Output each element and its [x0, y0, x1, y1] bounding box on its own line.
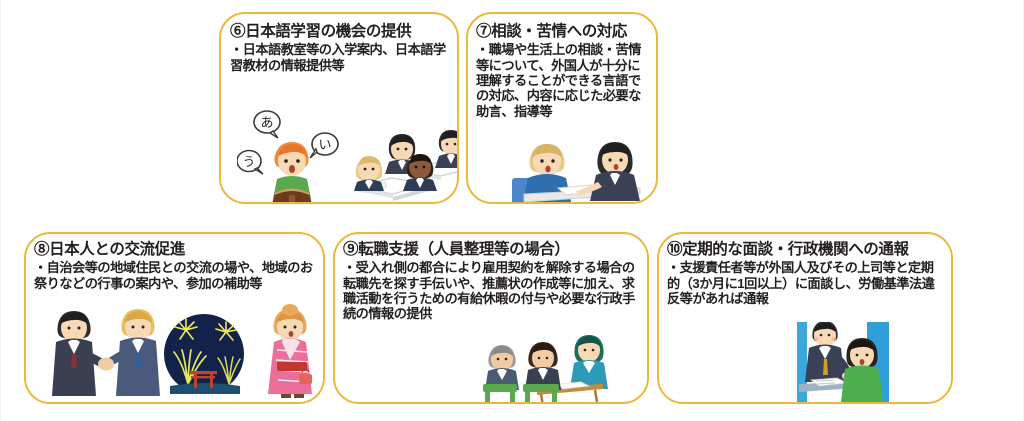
- interviewer-figure: [568, 335, 608, 392]
- card-periodic-interview-reporting: ⑩定期的な面談・行政機関への通報 ・支援責任者等が外国人及びその上司等と定期的（…: [657, 232, 953, 404]
- speech-bubble-u: う: [237, 151, 263, 175]
- consultation-staff-figure: [576, 142, 640, 201]
- supervisor-figure: [805, 322, 852, 382]
- card6-title: ⑥日本語学習の機会の提供: [230, 23, 457, 40]
- handshake-figures: [52, 309, 160, 396]
- consultation-desk-illustration: [506, 134, 656, 204]
- card6-body: ・日本語教室等の入学案内、日本語学習教材の情報提供等: [230, 42, 449, 73]
- card10-title: ⑩定期的な面談・行政機関への通報: [667, 241, 951, 258]
- speech-bubble-a: あ: [254, 111, 280, 138]
- svg-text:い: い: [318, 138, 331, 153]
- card-consultation-complaints: ⑦相談・苦情への対応 ・職場や生活上の相談・苦情等について、外国人が十分に理解す…: [466, 12, 658, 204]
- student-figure-2: [385, 134, 419, 174]
- card8-title: ⑧日本人との交流促進: [34, 241, 323, 258]
- card8-body: ・自治会等の地域住民との交流の場や、地域のお祭りなどの行事の案内や、参加の補助等: [34, 260, 316, 291]
- card7-body: ・職場や生活上の相談・苦情等について、外国人が十分に理解することができる言語での…: [476, 42, 649, 119]
- applicant-figure-2: [523, 342, 561, 404]
- card-exchange-with-japanese: ⑧日本人との交流促進 ・自治会等の地域住民との交流の場や、地域のお祭りなどの行事…: [24, 232, 325, 404]
- card-japanese-language-learning: ⑥日本語学習の機会の提供 ・日本語教室等の入学案内、日本語学習教材の情報提供等 …: [219, 12, 459, 204]
- reading-student-figure: [272, 142, 312, 204]
- svg-text:あ: あ: [260, 116, 273, 131]
- language-class-illustration: あ い う: [237, 109, 459, 204]
- applicant-figure-1: [483, 345, 519, 404]
- student-figure-3: [403, 154, 437, 191]
- job-interview-illustration: [475, 334, 635, 404]
- card10-body: ・支援責任者等が外国人及びその上司等と定期的（3か月に1回以上）に面談し、労働基…: [667, 260, 944, 306]
- classroom-desks: [355, 162, 459, 201]
- yukata-woman-figure: [268, 304, 312, 398]
- student-figure-4: [435, 130, 459, 168]
- support-measures-diagram: ⑥日本語学習の機会の提供 ・日本語教室等の入学案内、日本語学習教材の情報提供等 …: [0, 0, 1024, 421]
- consultation-client-figure: [522, 144, 572, 204]
- card7-title: ⑦相談・苦情への対応: [476, 23, 656, 40]
- card9-body: ・受入れ側の都合により雇用契約を解除する場合の転職先を探す手伝いや、推薦状の作成…: [343, 260, 640, 321]
- fireworks-illustration: [164, 314, 244, 394]
- periodic-meeting-illustration: [789, 322, 929, 404]
- interviewee-figure: [841, 338, 883, 402]
- card9-title: ⑨転職支援（人員整理等の場合）: [343, 241, 647, 258]
- exchange-festival-illustration: [36, 302, 316, 402]
- speech-bubble-i: い: [310, 133, 338, 158]
- card-job-change-support: ⑨転職支援（人員整理等の場合） ・受入れ側の都合により雇用契約を解除する場合の転…: [333, 232, 649, 404]
- student-figure-1: [354, 156, 384, 191]
- svg-text:う: う: [243, 154, 256, 169]
